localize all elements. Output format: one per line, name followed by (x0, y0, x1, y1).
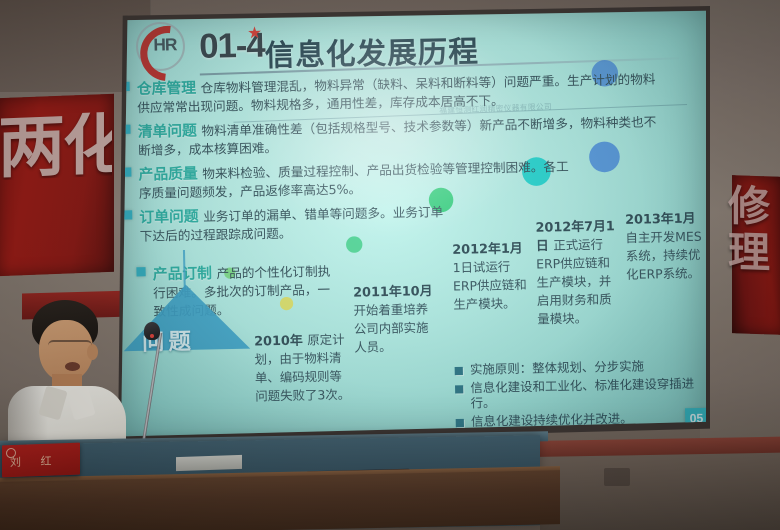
bullet-block-2: 产品质量 物来料检验、质量过程控制、产品出货检验等管理控制困难。各工序质量问题频… (138, 154, 577, 203)
projection-screen: HR 01-4 信息化发展历程 福建恒测红润精密仪器有限公司 仓库管理 仓库物料… (121, 9, 706, 439)
floor (540, 452, 780, 530)
timeline-item-3: 2012年7月1日 正式运行ERP供应链和生产模块，并启用财务和质量模块。 (535, 217, 623, 329)
hr-logo: HR (136, 21, 186, 71)
timeline-item-4: 2013年1月 自主开发MES系统，持续优化ERP系统。 (625, 209, 704, 284)
presenter-glasses (48, 340, 92, 351)
papers-on-podium (176, 455, 242, 471)
summary-row-0: 实施原则：整体规划、分步实施 (455, 358, 706, 378)
timeline-item-2: 2012年1月 1日试运行ERP供应链和生产模块。 (452, 239, 533, 314)
bullet-body-2: 物来料检验、质量过程控制、产品出货检验等管理控制困难。各工序质量问题频发，产品返… (139, 159, 569, 201)
bullet-body-1: 物料清单准确性差（包括规格型号、技术参数等）新产品不断增多，物料种类也不断增多，… (138, 114, 657, 158)
summary-text-0: 实施原则：整体规划、分步实施 (470, 359, 644, 378)
summary-square-icon-0 (455, 367, 463, 375)
timeline-date-4: 2013年1月 (625, 210, 696, 227)
banner-right: 修理 (732, 175, 780, 335)
logo-text: HR (153, 35, 176, 56)
timeline-item-1: 2011年10月 开始着重培养公司内部实施人员。 (353, 282, 440, 357)
timeline-desc-4: 自主开发MES系统，持续优化ERP系统。 (625, 229, 701, 282)
timeline-item-0: 2010年 原定计划，由于物料清单、编码规则等问题失败了3次。 (254, 330, 353, 405)
summary-list: 实施原则：整体规划、分步实施 信息化建设和工业化、标准化建设穿插进行。 信息化建… (455, 358, 706, 433)
summary-text-1: 信息化建设和工业化、标准化建设穿插进行。 (470, 376, 706, 411)
timeline-date-0: 2010年 (254, 332, 303, 348)
summary-square-icon-1 (455, 385, 463, 393)
summary-row-1: 信息化建设和工业化、标准化建设穿插进行。 (455, 376, 706, 412)
timeline-date-2: 2012年1月 (452, 240, 523, 257)
presenter-mouth (65, 362, 80, 371)
timeline-desc-2: 1日试运行ERP供应链和生产模块。 (452, 260, 526, 312)
timeline-desc-1: 开始着重培养公司内部实施人员。 (353, 302, 428, 354)
nameplate: 刘 红 (2, 443, 80, 478)
bullet-head-1: 清单问题 (138, 123, 197, 141)
summary-square-icon-2 (456, 419, 464, 427)
desk-wood-panel (0, 470, 560, 530)
timeline-date-1: 2011年10月 (353, 283, 433, 300)
microphone-indicator (150, 334, 154, 338)
bullet-head-0: 仓库管理 (137, 80, 196, 98)
bullet-square-icon-4 (136, 267, 145, 276)
banner-left-text: 两化融 (0, 112, 112, 180)
slide-content: HR 01-4 信息化发展历程 福建恒测红润精密仪器有限公司 仓库管理 仓库物料… (121, 9, 706, 439)
presenter-face (39, 320, 93, 382)
nameplate-text: 刘 红 (10, 452, 60, 470)
photo-scene: 两化融 修理 HR 01-4 信息化发展历程 (0, 0, 780, 530)
bullet-head-3: 订单问题 (139, 209, 198, 227)
wall-outlet (604, 468, 630, 486)
banner-right-text: 修理 (728, 183, 780, 277)
banner-left: 两化融 (0, 94, 114, 277)
bullet-block-3: 订单问题 业务订单的漏单、错单等问题多。业务订单下达后的过程跟踪成问题。 (139, 200, 446, 246)
bullet-head-2: 产品质量 (138, 166, 197, 184)
